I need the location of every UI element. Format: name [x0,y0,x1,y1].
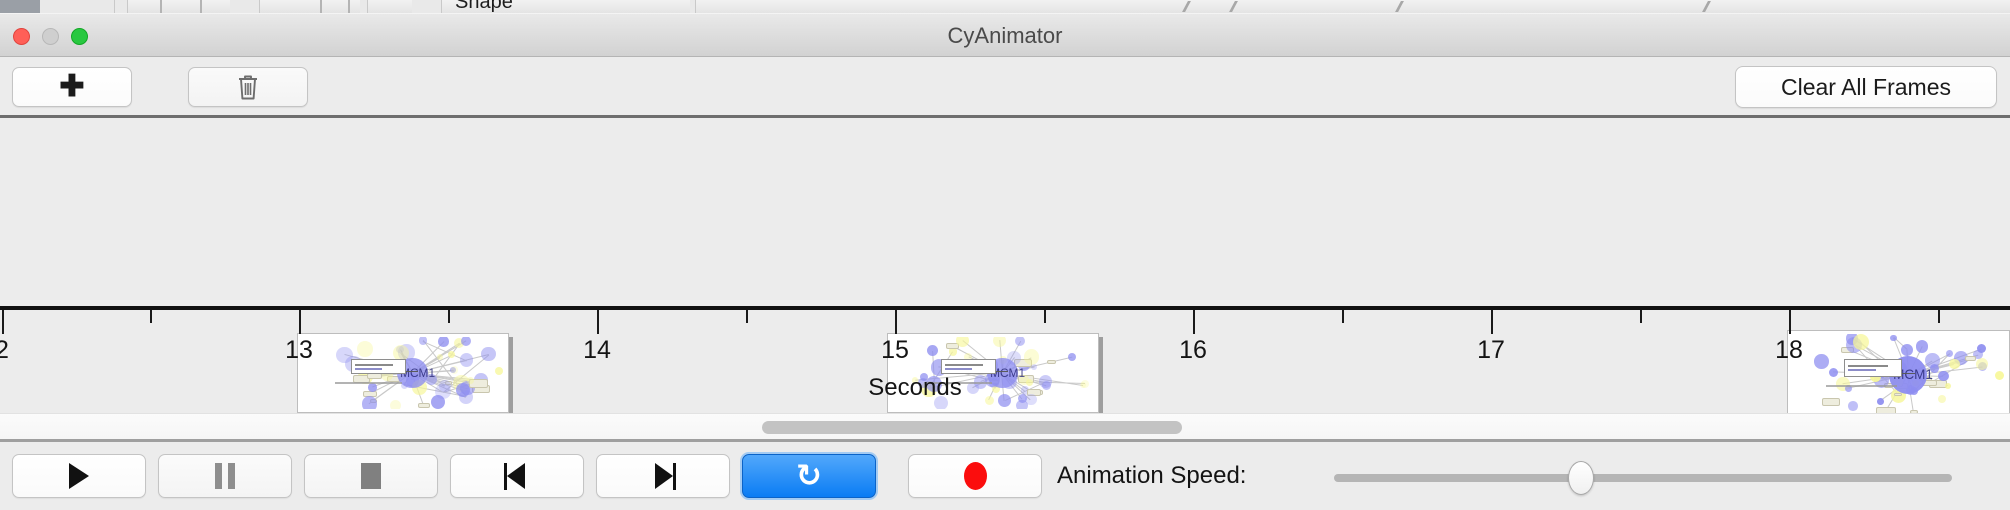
cyanimator-window: Shape CyAnimator ✚ Clear All Frames [0,0,2010,510]
axis-tick-minor [150,310,152,323]
trash-icon [236,73,260,101]
timeline-panel[interactable]: MCM1MCM1MCM1 2131415161718 Seconds [0,118,2010,413]
axis-tick-label: 13 [285,336,313,365]
axis-tick-minor [448,310,450,323]
play-icon [69,463,89,489]
axis-tick-minor [1342,310,1344,323]
skip-back-icon [504,463,530,490]
record-button[interactable] [908,454,1042,498]
timeline-scrollbar-track[interactable] [0,413,2010,439]
record-icon [964,462,987,490]
axis-tick-major [2,310,4,334]
axis-tick-minor [1938,310,1940,323]
axis-line [0,306,2010,310]
timeline-axis: 2131415161718 Seconds [0,306,2010,413]
axis-tick-label: 15 [881,336,909,365]
skip-to-end-button[interactable] [596,454,730,498]
plus-icon: ✚ [59,72,84,102]
axis-title-seconds: Seconds [0,374,2010,402]
axis-tick-minor [1640,310,1642,323]
window-title: CyAnimator [0,14,2010,58]
axis-tick-minor [746,310,748,323]
delete-frame-button[interactable] [188,67,308,107]
axis-tick-major [1193,310,1195,334]
axis-tick-label: 16 [1179,336,1207,365]
axis-tick-label: 18 [1775,336,1803,365]
background-window-label: Shape [455,0,513,9]
axis-tick-minor [1044,310,1046,323]
axis-tick-major [597,310,599,334]
axis-tick-major [299,310,301,334]
axis-tick-major [1491,310,1493,334]
axis-tick-major [895,310,897,334]
clear-all-frames-button[interactable]: Clear All Frames [1735,66,1997,108]
pause-icon [215,463,235,489]
pause-button[interactable] [158,454,292,498]
slider-track[interactable] [1334,474,1952,482]
skip-forward-icon [650,463,676,490]
playback-controls: ↻ Animation Speed: [0,442,2010,510]
stop-icon [361,463,381,489]
title-bar: CyAnimator [0,13,2010,57]
timeline-scrollbar-thumb[interactable] [762,421,1182,434]
axis-tick-major [1789,310,1791,334]
background-window-strip: Shape [0,0,2010,13]
animation-speed-slider[interactable] [1334,474,1952,482]
axis-tick-label: 14 [583,336,611,365]
loop-icon: ↻ [796,461,822,492]
keyframes-track[interactable]: MCM1MCM1MCM1 [0,118,2010,308]
stop-button[interactable] [304,454,438,498]
animation-speed-label: Animation Speed: [1057,454,1246,498]
add-frame-button[interactable]: ✚ [12,67,132,107]
axis-tick-label: 17 [1477,336,1505,365]
play-button[interactable] [12,454,146,498]
skip-to-start-button[interactable] [450,454,584,498]
axis-tick-label: 2 [0,336,9,365]
frame-toolbar: ✚ Clear All Frames [0,57,2010,117]
clear-all-frames-label: Clear All Frames [1781,74,1951,101]
slider-thumb[interactable] [1568,461,1594,495]
loop-button[interactable]: ↻ [742,454,876,498]
